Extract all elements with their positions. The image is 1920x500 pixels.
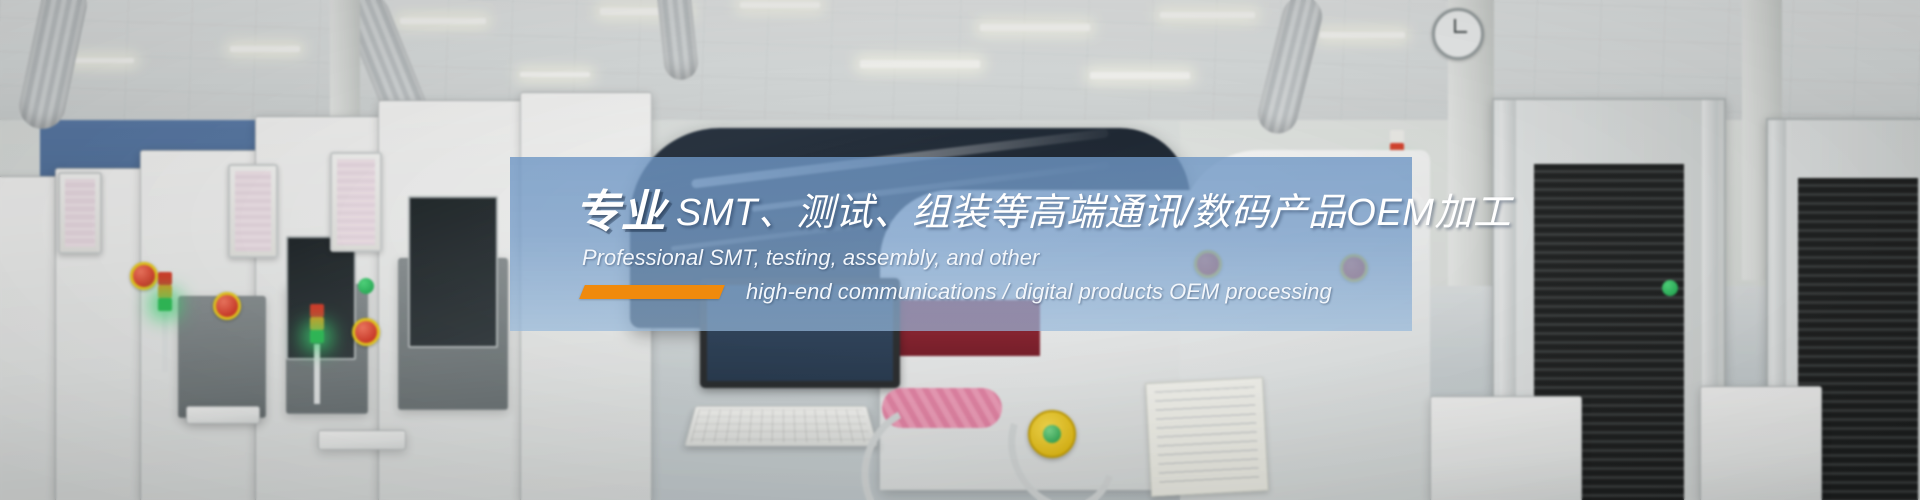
orange-accent-bar [579,285,725,299]
hero-banner: 专业SMT、测试、组装等高端通讯/数码产品OEM加工 Professional … [0,0,1920,500]
hero-subtitle-line-1: Professional SMT, testing, assembly, and… [582,245,1039,271]
hero-headline: 专业SMT、测试、组装等高端通讯/数码产品OEM加工 [575,175,1511,240]
hero-subtitle-line-2-row: high-end communications / digital produc… [582,279,1332,305]
headline-emphasis: 专业 [575,186,666,237]
hero-subtitle-line-2: high-end communications / digital produc… [746,279,1332,305]
headline-rest: SMT、测试、组装等高端通讯/数码产品OEM加工 [676,192,1511,234]
hero-text-overlay: 专业SMT、测试、组装等高端通讯/数码产品OEM加工 Professional … [510,157,1412,331]
